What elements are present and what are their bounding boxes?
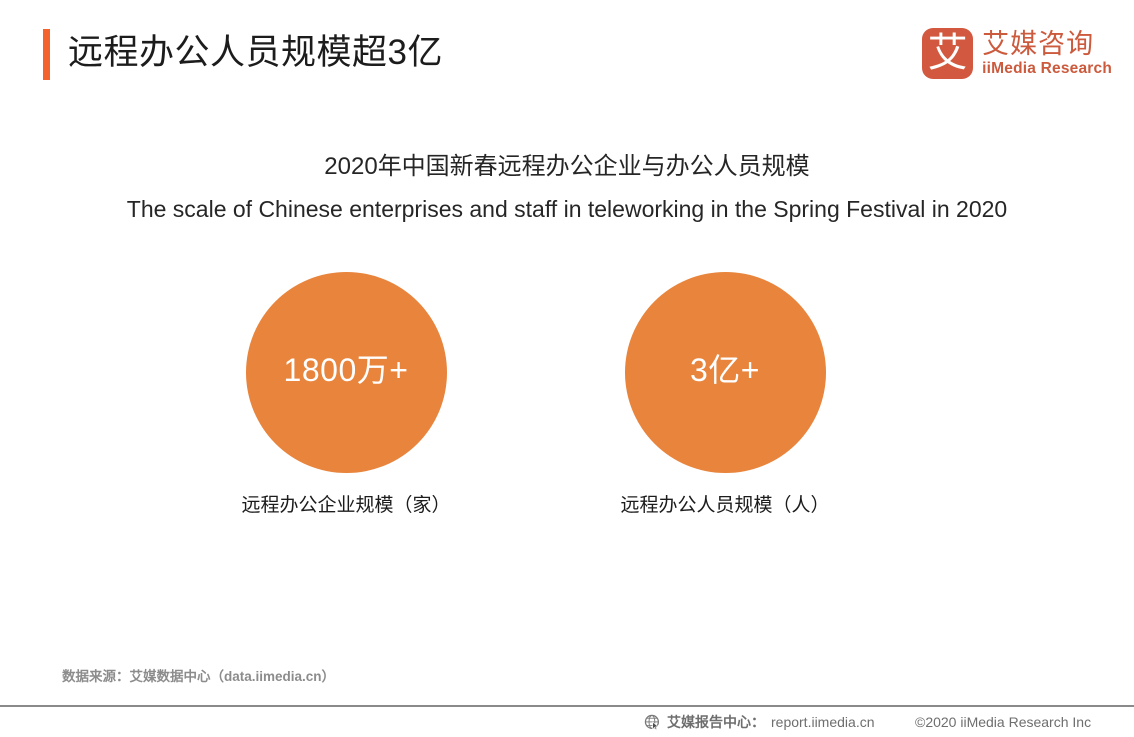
bubble-group-enterprises: 1800万+ 远程办公企业规模（家）: [196, 272, 496, 519]
chart-area: 2020年中国新春远程办公企业与办公人员规模 The scale of Chin…: [0, 0, 1134, 700]
bubble-enterprises: 1800万+: [246, 272, 447, 473]
chart-title-cn: 2020年中国新春远程办公企业与办公人员规模: [0, 150, 1134, 184]
chart-title-en: The scale of Chinese enterprises and sta…: [0, 192, 1134, 226]
bubble-label-staff: 远程办公人员规模（人）: [620, 493, 829, 519]
footer-report-label: 艾媒报告中心：: [667, 712, 765, 732]
bubble-label-enterprises: 远程办公企业规模（家）: [241, 493, 450, 519]
footer-copyright: ©2020 iiMedia Research Inc: [915, 712, 1091, 732]
footer-report-center[interactable]: 艾媒报告中心： report.iimedia.cn: [644, 712, 875, 732]
bubble-value-staff: 3亿+: [690, 352, 760, 388]
page-footer: 艾媒报告中心： report.iimedia.cn ©2020 iiMedia …: [0, 707, 1134, 737]
footer-report-url[interactable]: report.iimedia.cn: [771, 712, 875, 732]
bubble-group-staff: 3亿+ 远程办公人员规模（人）: [575, 272, 875, 519]
bubble-staff: 3亿+: [625, 272, 826, 473]
bubble-value-enterprises: 1800万+: [284, 352, 409, 388]
source-note: 数据来源：艾媒数据中心（data.iimedia.cn）: [62, 667, 335, 687]
globe-cursor-icon: [644, 714, 661, 731]
